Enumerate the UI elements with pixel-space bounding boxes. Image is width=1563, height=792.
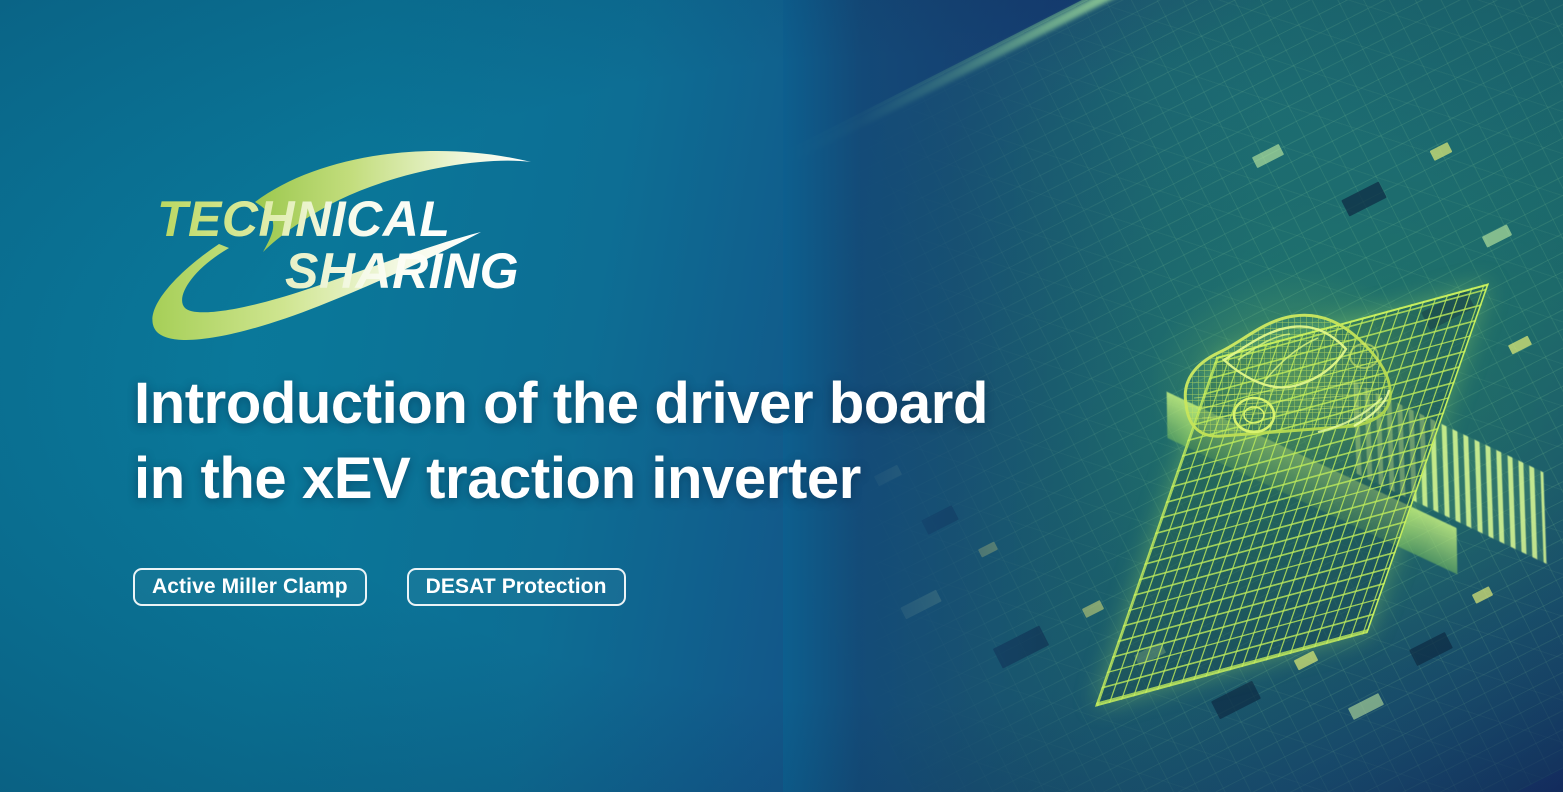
title-line-2: in the xEV traction inverter — [134, 441, 1194, 516]
svg-text:SHARING: SHARING — [285, 243, 519, 299]
svg-text:TECHNICAL: TECHNICAL — [157, 191, 450, 247]
tag-desat-protection[interactable]: DESAT Protection — [407, 568, 626, 606]
title-line-1: Introduction of the driver board — [134, 366, 1194, 441]
tag-active-miller-clamp[interactable]: Active Miller Clamp — [133, 568, 367, 606]
tag-list: Active Miller Clamp DESAT Protection — [133, 568, 626, 606]
banner-content: TECHNICAL SHARING Introduction of the dr… — [0, 0, 1563, 792]
technical-sharing-logo: TECHNICAL SHARING — [133, 140, 573, 340]
technical-sharing-banner: TECHNICAL SHARING Introduction of the dr… — [0, 0, 1563, 792]
page-title: Introduction of the driver board in the … — [134, 366, 1194, 516]
